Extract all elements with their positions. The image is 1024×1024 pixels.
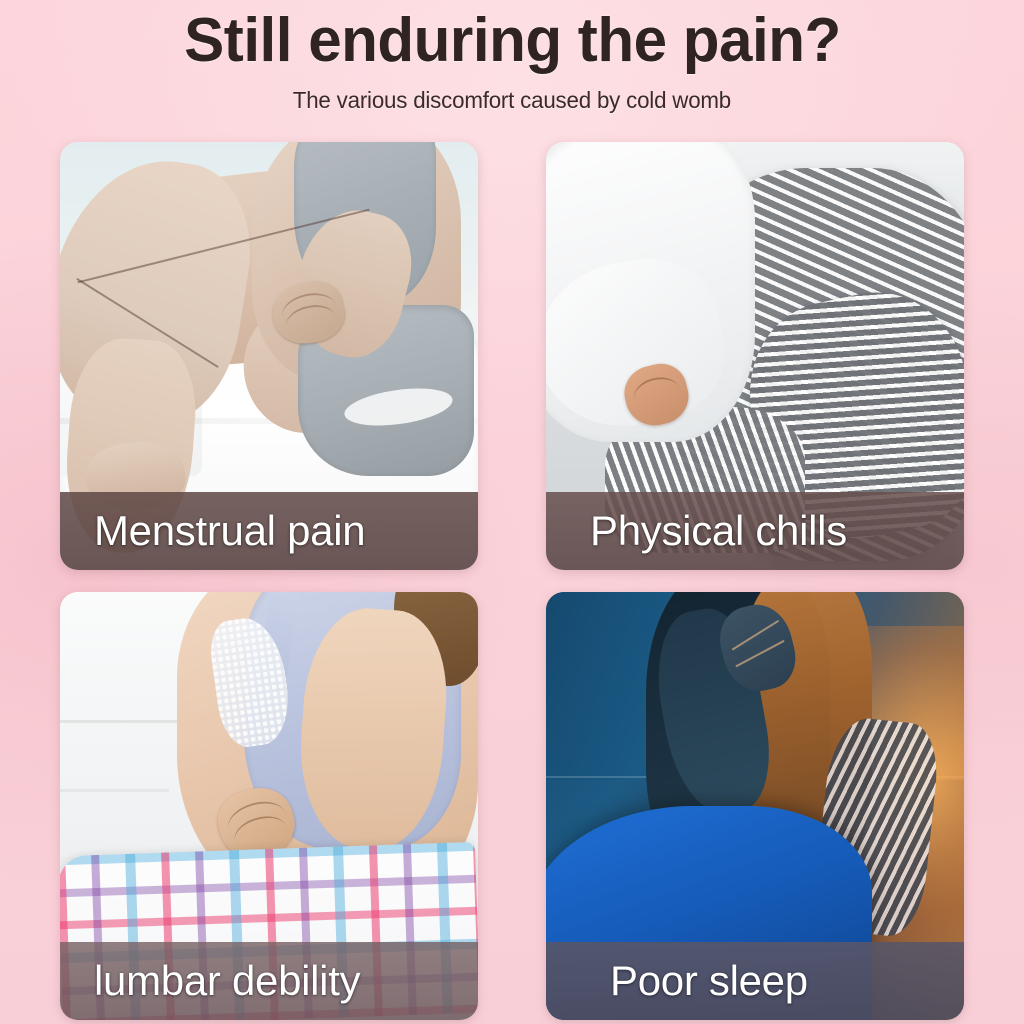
card-caption-menstrual-pain: Menstrual pain <box>60 492 478 570</box>
header: Still enduring the pain? The various dis… <box>0 0 1024 140</box>
symptom-card-menstrual-pain[interactable]: Menstrual pain <box>60 142 478 570</box>
page-title: Still enduring the pain? <box>184 6 841 75</box>
card-caption-poor-sleep: Poor sleep <box>546 942 964 1020</box>
symptom-grid: Menstrual pain Physical chills <box>60 142 964 1022</box>
symptom-card-poor-sleep[interactable]: Poor sleep <box>546 592 964 1020</box>
promo-page: Still enduring the pain? The various dis… <box>0 0 1024 1024</box>
symptom-card-physical-chills[interactable]: Physical chills <box>546 142 964 570</box>
card-caption-physical-chills: Physical chills <box>546 492 964 570</box>
card-caption-lumbar-debility: lumbar debility <box>60 942 478 1020</box>
symptom-card-lumbar-debility[interactable]: lumbar debility <box>60 592 478 1020</box>
page-subtitle: The various discomfort caused by cold wo… <box>293 87 731 114</box>
